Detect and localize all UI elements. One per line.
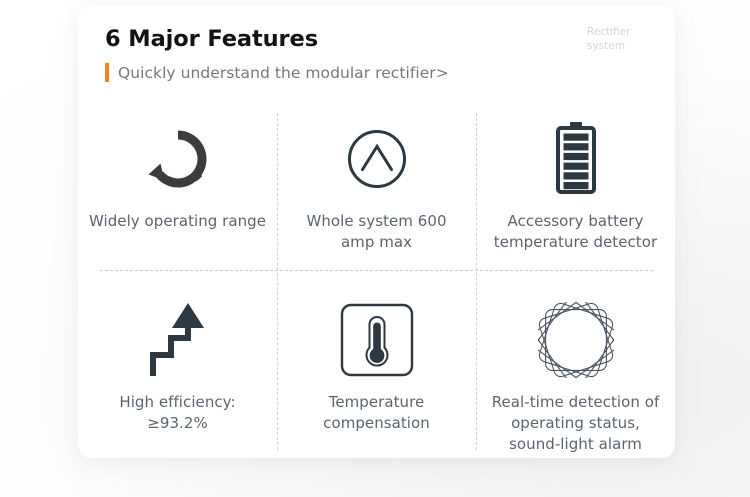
stairs-up-arrow-icon — [147, 292, 209, 388]
feature-caption: Accessory battery temperature detector — [483, 211, 669, 253]
feature-cell[interactable]: High efficiency: ≥93.2% — [78, 282, 277, 459]
feature-caption: Real-time detection of operating status,… — [484, 392, 668, 455]
battery-full-icon — [552, 111, 600, 207]
feature-caption: Whole system 600 amp max — [288, 211, 466, 253]
subtitle-row: Quickly understand the modular rectifier… — [105, 63, 449, 82]
page-subtitle: Quickly understand the modular rectifier… — [118, 64, 449, 82]
corner-watermark-label: Rectifier system — [587, 26, 643, 53]
card-header: 6 Major Features Quickly understand the … — [78, 5, 675, 105]
rotation-arrow-icon — [142, 111, 214, 207]
page-title: 6 Major Features — [105, 26, 318, 52]
feature-caption: High efficiency: ≥93.2% — [89, 392, 267, 434]
feature-caption: Widely operating range — [89, 211, 266, 232]
accent-bar — [105, 63, 109, 82]
circle-chevron-up-icon — [345, 111, 409, 207]
feature-cell[interactable]: Widely operating range — [78, 105, 277, 282]
feature-cell[interactable]: Temperature compensation — [277, 282, 476, 459]
thermometer-icon — [340, 292, 414, 388]
page-root: 6 Major Features Quickly understand the … — [0, 0, 750, 497]
rotating-squares-alarm-icon — [538, 292, 614, 388]
feature-cell[interactable]: Real-time detection of operating status,… — [476, 282, 675, 459]
feature-cell[interactable]: Whole system 600 amp max — [277, 105, 476, 282]
features-grid: Widely operating range Whole system 600 … — [78, 105, 675, 458]
features-card: 6 Major Features Quickly understand the … — [78, 5, 675, 458]
feature-caption: Temperature compensation — [288, 392, 466, 434]
feature-cell[interactable]: Accessory battery temperature detector — [476, 105, 675, 282]
